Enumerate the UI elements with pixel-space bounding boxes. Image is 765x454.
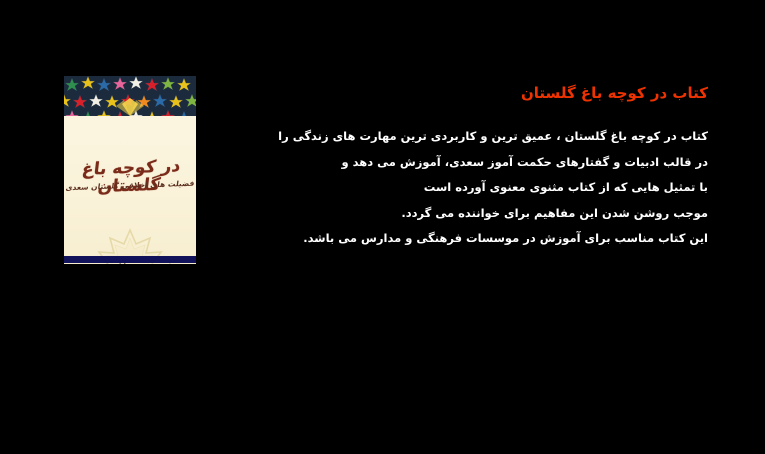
cover-title-calligraphy: در کوچه باغ گلستان: [64, 157, 196, 198]
article-body-line: در قالب ادبیات و گفتارهای حکمت آموز سعدی…: [308, 150, 708, 176]
article-body-line: موجب روشن شدن این مفاهیم برای خواننده می…: [308, 201, 708, 227]
article-body-line: این کتاب مناسب برای آموزش در موسسات فرهن…: [308, 226, 708, 252]
article-title: کتاب در کوچه باغ گلستان: [308, 83, 708, 103]
article-text-column: کتاب در کوچه باغ گلستان کتاب در کوچه باغ…: [308, 83, 708, 252]
cover-geometric-pattern: [64, 76, 196, 116]
article-body-line: با تمثیل هایی که از کتاب مثنوی معنوی آور…: [308, 175, 708, 201]
cover-bottom-bar: [64, 256, 196, 263]
book-cover-image: در کوچه باغ گلستان فضیلت های اخلاقی گلست…: [64, 76, 196, 264]
page-root: در کوچه باغ گلستان فضیلت های اخلاقی گلست…: [0, 0, 765, 454]
article-body-line: کتاب در کوچه باغ گلستان ، عمیق ترین و کا…: [308, 124, 708, 150]
article-body: کتاب در کوچه باغ گلستان ، عمیق ترین و کا…: [308, 124, 708, 252]
cover-paper-area: در کوچه باغ گلستان فضیلت های اخلاقی گلست…: [64, 116, 196, 264]
